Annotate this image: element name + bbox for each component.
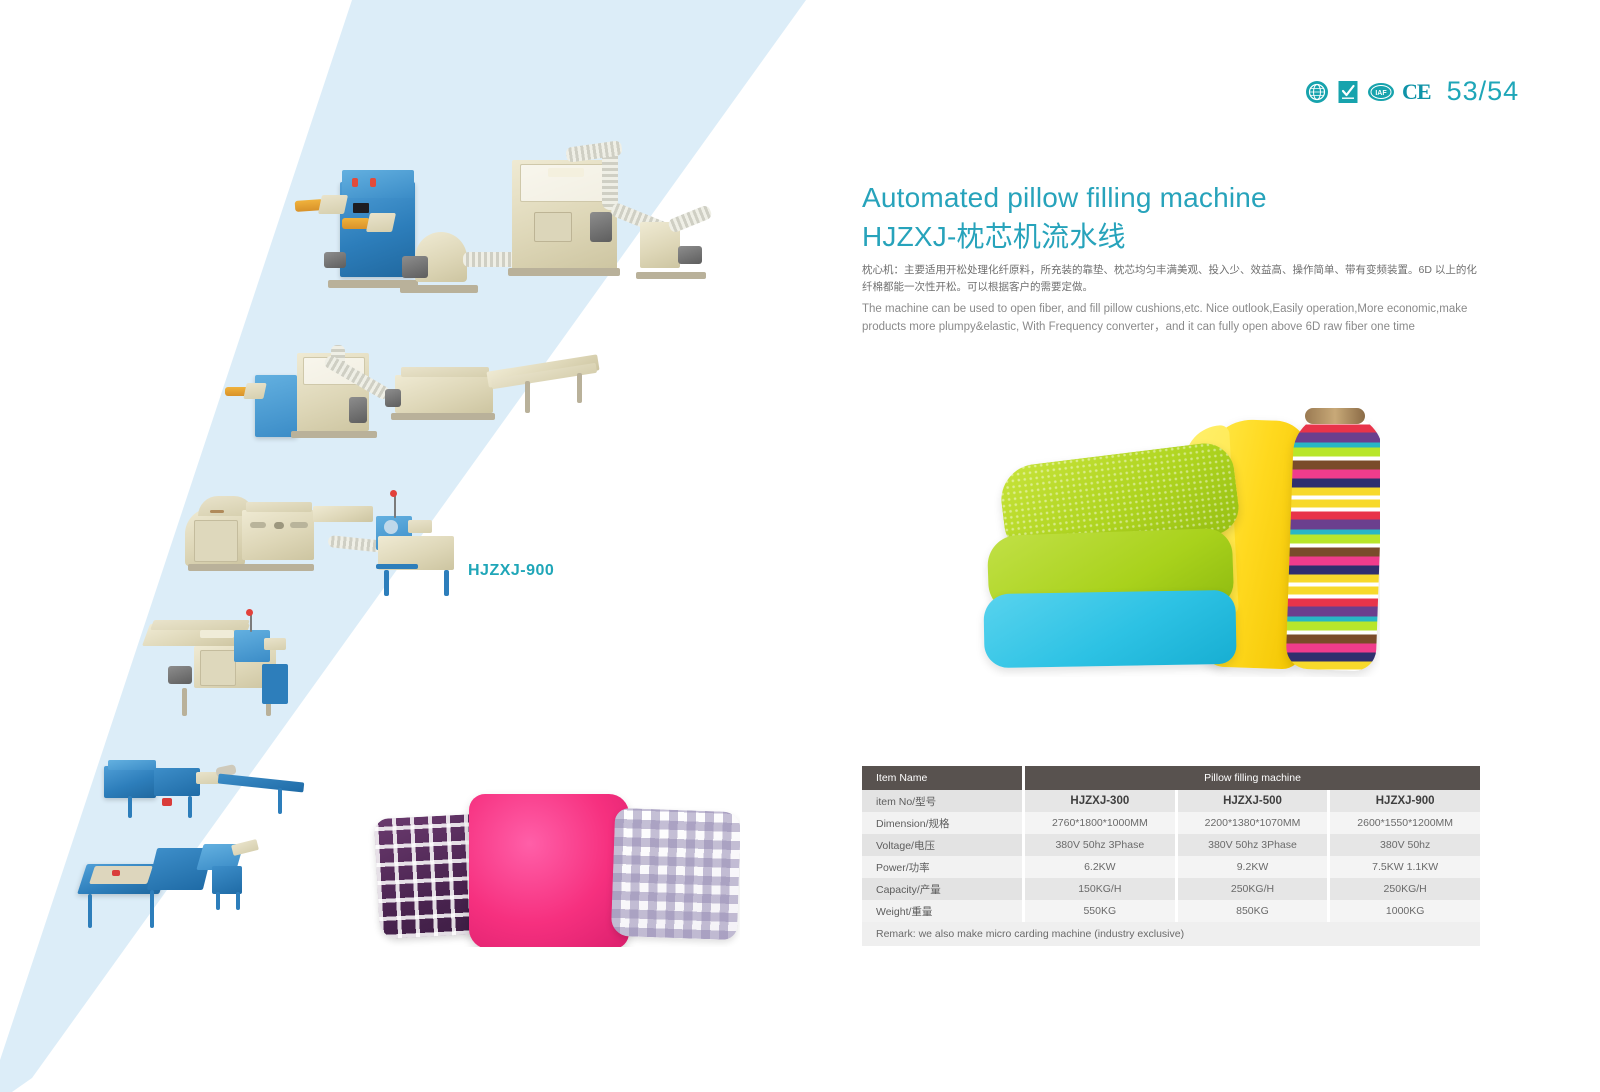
machine-line-row-2: [225, 345, 625, 465]
leg-5a: [128, 796, 132, 818]
extension-duct-3: [313, 506, 373, 522]
product-title-cn: HJZXJ-枕芯机流水线: [862, 215, 1126, 255]
cell-value: 150KG/H: [1025, 878, 1175, 900]
conveyor-leg-2b: [577, 373, 582, 403]
cell-value: 380V 50hz: [1330, 834, 1480, 856]
opener-access-door: [194, 520, 238, 562]
cell-value: 1000KG: [1330, 900, 1480, 922]
antenna-knob-4: [246, 609, 253, 616]
machine-line-row-6: [60, 838, 290, 948]
iaf-oval-icon: IAF: [1367, 80, 1395, 104]
red-part-5: [162, 798, 172, 806]
outlet-cone-3: [408, 520, 432, 533]
table-surface-4: [150, 620, 250, 630]
cell-value: 250KG/H: [1178, 878, 1328, 900]
table-row: Capacity/产量 150KG/H 250KG/H 250KG/H: [862, 878, 1480, 900]
table-header-row: Item Name Pillow filling machine: [862, 766, 1480, 790]
cabinet-brand-plate: [548, 168, 584, 177]
cell-value: 2200*1380*1070MM: [1178, 812, 1328, 834]
cell-value: 250KG/H: [1330, 878, 1480, 900]
row-label: Weight/重量: [862, 900, 1022, 922]
row-label: Voltage/电压: [862, 834, 1022, 856]
leg-6d: [236, 892, 240, 910]
product-title-en: Automated pillow filling machine: [862, 182, 1267, 214]
certification-bar: IAF CE 53/54: [1305, 76, 1519, 107]
antenna-knob-3: [390, 490, 397, 497]
transfer-duct-2: [667, 204, 713, 233]
conveyor-leg-2: [525, 381, 530, 413]
cushion-gingham-lilac: [611, 808, 740, 940]
carding-motor-2: [385, 389, 401, 407]
description-chinese: 枕心机：主要适用开松处理化纤原料，所充装的靠垫、枕芯均匀丰满美观、投入少、效益高…: [862, 262, 1480, 296]
blue-stand-4: [262, 664, 288, 704]
leg-5b: [188, 796, 192, 818]
page-number: 53/54: [1447, 76, 1520, 107]
carding-base-2: [391, 413, 495, 420]
machine-line-row-4: [138, 612, 398, 722]
opener-port-a: [250, 522, 266, 528]
bed-screen-6: [89, 866, 153, 884]
cell-value: 9.2KW: [1178, 856, 1328, 878]
opener-body-3: [242, 510, 314, 560]
feed-chute-lower: [366, 213, 396, 232]
drive-motor-1: [324, 252, 346, 268]
gearbox-2: [349, 397, 367, 423]
header-group-title: Pillow filling machine: [1025, 766, 1480, 790]
nozzle-6: [231, 839, 259, 856]
machine-line-row-3: [180, 488, 470, 598]
head-port-3: [384, 520, 398, 534]
cushion-pink: [469, 794, 629, 947]
blue-body-5: [154, 768, 200, 796]
check-badge-icon: [1336, 80, 1360, 104]
red-tag-6: [112, 870, 120, 876]
cabinet-door-4: [200, 650, 236, 686]
blue-unit-top-5: [108, 760, 156, 770]
feed-chute-upper: [318, 195, 348, 214]
table-leg-3a: [384, 570, 389, 596]
cell-value: 2760*1800*1000MM: [1025, 812, 1175, 834]
header-item-name: Item Name: [862, 766, 1022, 790]
pillow-hero-photo: [960, 392, 1380, 677]
catalog-page: HJZXJ-900 IAF CE 53/54 Automated: [0, 0, 1600, 1092]
motor-4: [168, 666, 192, 684]
leg-5c: [278, 788, 282, 814]
table-row: Power/功率 6.2KW 9.2KW 7.5KW 1.1KW: [862, 856, 1480, 878]
row-label: item No/型号: [862, 790, 1022, 812]
description-english: The machine can be used to open fiber, a…: [862, 300, 1480, 336]
leg-4a: [182, 688, 187, 716]
svg-text:IAF: IAF: [1375, 90, 1387, 97]
specification-table: Item Name Pillow filling machine item No…: [862, 766, 1480, 946]
table-row: Dimension/规格 2760*1800*1000MM 2200*1380*…: [862, 812, 1480, 834]
cell-value: HJZXJ-300: [1025, 790, 1175, 812]
opener-port-c: [290, 522, 308, 528]
pillow-blue-bottom: [983, 590, 1236, 668]
transfer-duct-1: [463, 252, 517, 267]
row-label: Capacity/产量: [862, 878, 1022, 900]
fan-motor-1: [402, 256, 428, 278]
opener-body-top-3: [246, 502, 312, 512]
nozzle-4: [264, 638, 286, 650]
cell-value: 2600*1550*1200MM: [1330, 812, 1480, 834]
drum-handle: [210, 510, 224, 513]
cushion-photo-bottom: [365, 772, 740, 947]
machine-line-row-5: [100, 752, 330, 832]
bolster-tie-top: [1305, 408, 1365, 424]
cell-value: HJZXJ-900: [1330, 790, 1480, 812]
gearbox-1: [590, 212, 612, 242]
pillow-striped-bolster: [1286, 413, 1380, 672]
blue-stand-6: [212, 866, 242, 894]
carding-body-2: [395, 375, 493, 413]
ce-mark-icon: CE: [1402, 79, 1431, 105]
fan-base-1: [400, 285, 478, 293]
feed-chute-2: [243, 383, 266, 399]
panel-button-left: [352, 178, 358, 187]
blower-motor-1: [678, 246, 702, 264]
row-label: Power/功率: [862, 856, 1022, 878]
antenna-rod-3: [394, 494, 396, 518]
iso-globe-icon: [1305, 80, 1329, 104]
cell-value: 6.2KW: [1025, 856, 1175, 878]
cell-value: 550KG: [1025, 900, 1175, 922]
table-row: item No/型号 HJZXJ-300 HJZXJ-500 HJZXJ-900: [862, 790, 1480, 812]
conveyor-5: [218, 774, 305, 793]
remark-text: Remark: we also make micro carding machi…: [862, 922, 1480, 946]
opener-port-b: [274, 522, 284, 529]
blue-unit-5: [104, 766, 156, 798]
cell-value: 380V 50hz 3Phase: [1025, 834, 1175, 856]
panel-button-right: [370, 178, 376, 187]
hopper-base: [636, 272, 706, 279]
table-brace-3: [376, 564, 418, 569]
table-brand-4: [200, 630, 234, 638]
carding-top-2: [401, 367, 489, 377]
cabinet-base: [508, 268, 620, 276]
leg-6b: [150, 890, 154, 928]
machine-model-label: HJZXJ-900: [468, 562, 554, 580]
opener-base-3: [188, 564, 314, 571]
leg-6a: [88, 894, 92, 928]
hmi-screen: [353, 203, 369, 213]
cell-value: 850KG: [1178, 900, 1328, 922]
table-remark-row: Remark: we also make micro carding machi…: [862, 922, 1480, 946]
cabinet-access-door: [534, 212, 572, 242]
cell-value: 380V 50hz 3Phase: [1178, 834, 1328, 856]
table-leg-3b: [444, 570, 449, 596]
leg-6c: [216, 892, 220, 910]
row-label: Dimension/规格: [862, 812, 1022, 834]
cell-value: HJZXJ-500: [1178, 790, 1328, 812]
table-row: Voltage/电压 380V 50hz 3Phase 380V 50hz 3P…: [862, 834, 1480, 856]
machine-line-row-1: [280, 140, 700, 330]
base-frame-2: [291, 431, 377, 438]
table-row: Weight/重量 550KG 850KG 1000KG: [862, 900, 1480, 922]
cell-value: 7.5KW 1.1KW: [1330, 856, 1480, 878]
